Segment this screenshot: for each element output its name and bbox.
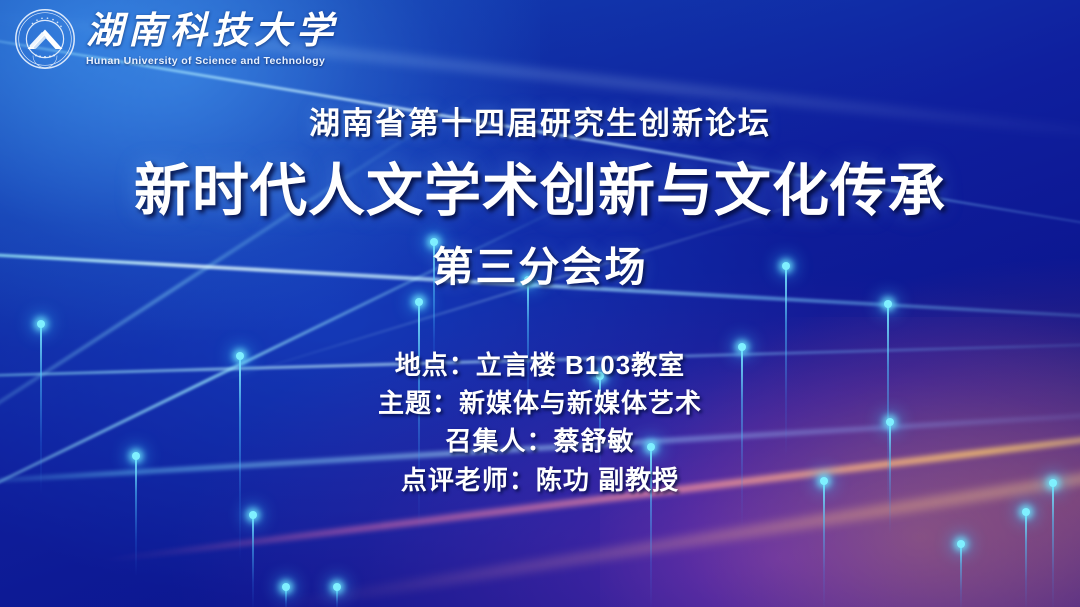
pin-tail: [336, 587, 338, 607]
forum-eyebrow: 湖南省第十四届研究生创新论坛: [0, 98, 1080, 143]
detail-line: 主题：新媒体与新媒体艺术: [0, 384, 1080, 422]
detail-line: 地点：立言楼 B103教室: [0, 346, 1080, 384]
slide-content: 湖南省第十四届研究生创新论坛 新时代人文学术创新与文化传承 第三分会场 地点：立…: [0, 0, 1080, 499]
slide-headline: 新时代人文学术创新与文化传承: [0, 161, 1080, 223]
pin-tail: [252, 515, 254, 607]
detail-line: 点评老师：陈功 副教授: [0, 461, 1080, 499]
presentation-slide: 湖南科技大学 Hunan University of Science and T…: [0, 0, 1080, 607]
pin-tail: [285, 587, 287, 607]
pin-marker: [248, 511, 258, 607]
session-details: 地点：立言楼 B103教室主题：新媒体与新媒体艺术召集人：蔡舒敏点评老师：陈功 …: [0, 346, 1080, 500]
pin-dot: [333, 583, 341, 591]
pin-dot: [282, 583, 290, 591]
slide-subhead: 第三分会场: [0, 233, 1080, 293]
pin-marker: [332, 583, 342, 607]
pin-dot: [249, 511, 257, 519]
pin-marker: [281, 583, 291, 607]
detail-line: 召集人：蔡舒敏: [0, 422, 1080, 460]
